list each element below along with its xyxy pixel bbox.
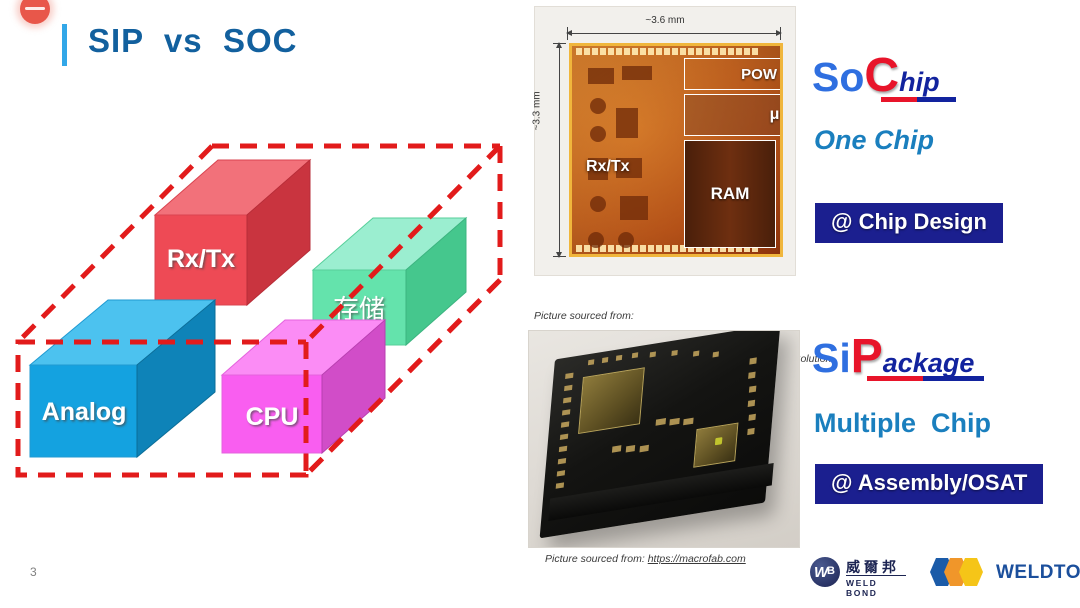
soc-caption-line1: Picture sourced from: (534, 309, 831, 323)
sip-caption-prefix: Picture sourced from: (545, 553, 648, 565)
sip-badge: @ Assembly/OSAT (815, 464, 1043, 504)
block-label: Rx/Tx (167, 245, 235, 273)
soc-heading-part-a: So (812, 54, 864, 100)
slide-number: 3 (30, 565, 37, 579)
sip-heading: SiPackage (812, 333, 974, 381)
soc-heading-part-b: C (864, 49, 899, 102)
sip-soc-3d-block-diagram: Rx/Tx 存储 Analog (0, 130, 520, 510)
red-circle-logo (20, 0, 50, 24)
sip-photo-caption: Picture sourced from: https://macrofab.c… (545, 552, 746, 566)
die-width-arrow (567, 33, 781, 34)
soc-heading-underline (881, 97, 956, 102)
sip-heading-part-a: Si (812, 335, 851, 381)
block-label: Analog (42, 398, 127, 426)
die-height-arrow (559, 43, 560, 257)
weldtone-hexagon-icon (930, 558, 988, 586)
soc-die-photo: ~3.6 mm ~3.3 mm (534, 6, 796, 276)
block-analog: Analog (30, 300, 215, 457)
die-tick-top (553, 43, 566, 44)
die-tick-left (567, 27, 568, 40)
block-rx-tx: Rx/Tx (155, 160, 310, 305)
die-block-ram: RAM (684, 140, 776, 248)
weldbond-mark-icon (810, 557, 840, 587)
diagram-svg: Rx/Tx 存储 Analog (0, 130, 520, 510)
die-image: POW μC RAM ANA Rx/Tx (569, 43, 783, 257)
soc-heading: SoChip (812, 52, 940, 100)
die-block-rxtx-label: Rx/Tx (586, 158, 630, 176)
weldbond-chinese-name: 威爾邦 (846, 557, 900, 577)
die-pad-row-top (576, 48, 758, 55)
weldbond-english-name: WELD BOND (846, 575, 906, 598)
soc-subtitle: One Chip (814, 125, 934, 156)
die-tick-bottom (553, 256, 566, 257)
die-block-uc: μC (684, 94, 783, 136)
pcb-die-large (578, 367, 645, 434)
weldtone-wordmark: WELDTONE (996, 562, 1080, 584)
page-title: SIP vs SOC (88, 22, 297, 60)
slide-canvas: SIP vs SOC (0, 0, 1080, 608)
die-block-ana: ANA (780, 140, 783, 248)
block-label: CPU (246, 403, 299, 431)
soc-heading-part-c: hip (899, 67, 940, 97)
weldbond-logo: 威爾邦 WELD BOND (810, 553, 906, 591)
sip-caption-url[interactable]: https://macrofab.com (648, 553, 746, 565)
title-accent-bar (62, 24, 67, 66)
die-tick-right (780, 27, 781, 40)
sip-package-photo (528, 330, 800, 548)
sip-heading-part-c: ackage (883, 348, 975, 378)
die-width-label: ~3.6 mm (535, 15, 795, 26)
soc-badge: @ Chip Design (815, 203, 1003, 243)
weldtone-logo: WELDTONE (930, 556, 1070, 588)
die-block-pow: POW (684, 58, 783, 90)
sip-subtitle: Multiple Chip (814, 408, 991, 439)
die-height-label: ~3.3 mm (532, 91, 543, 130)
sip-heading-underline (867, 376, 984, 381)
